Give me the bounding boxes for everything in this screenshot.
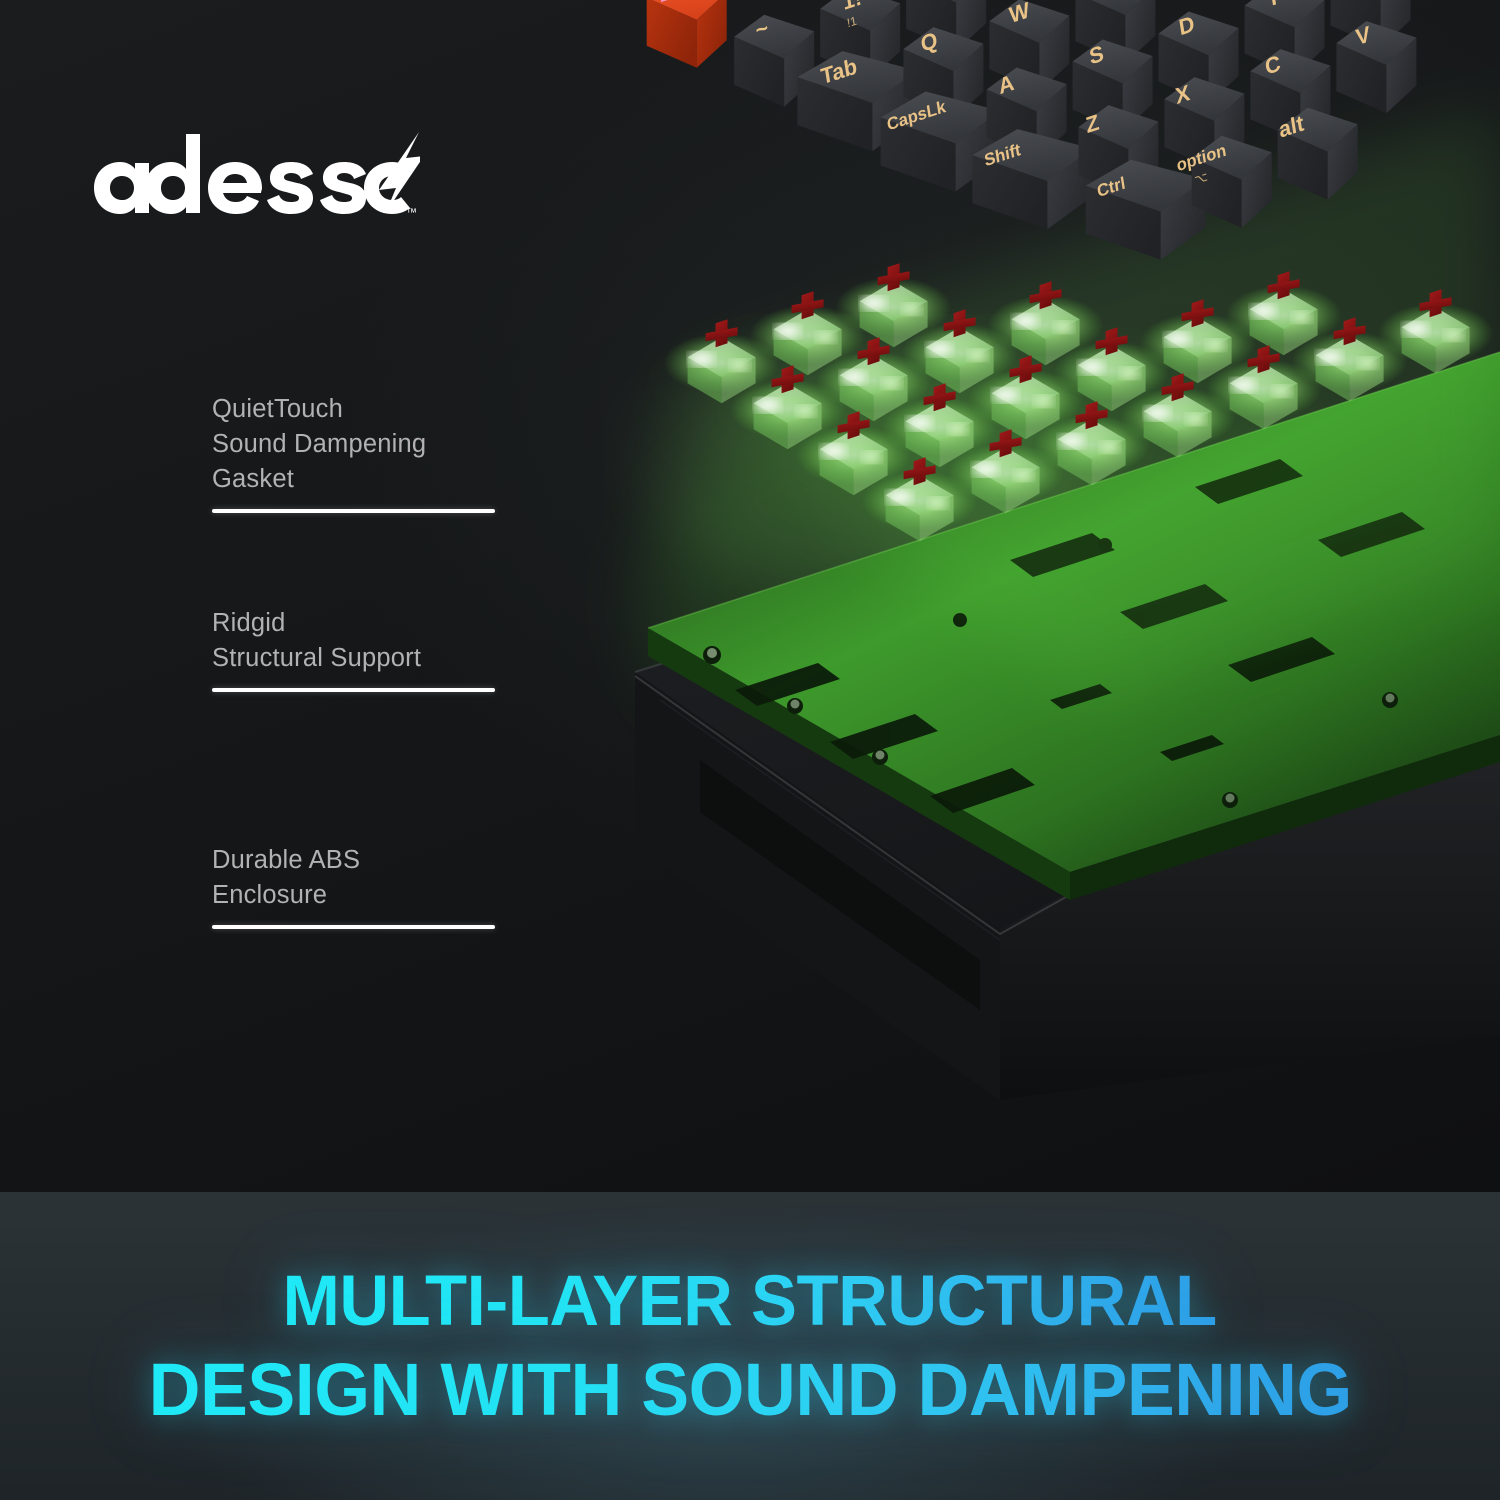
headline-banner: MULTI-LAYER STRUCTURAL DESIGN WITH SOUND… xyxy=(0,1192,1500,1500)
feature-label: Durable ABS Enclosure xyxy=(212,843,512,913)
headline-line-2: DESIGN WITH SOUND DAMPENING xyxy=(148,1348,1351,1432)
feature-underline xyxy=(212,925,495,929)
feature-callout-structural-support: Ridgid Structural Support xyxy=(212,606,512,692)
headline-line-1: MULTI-LAYER STRUCTURAL xyxy=(283,1260,1217,1344)
trademark-symbol: ™ xyxy=(406,207,417,219)
feature-callout-abs-enclosure: Durable ABS Enclosure xyxy=(212,843,512,929)
hero-panel: ESC~1!!12@@2TabQWECapsLkASDFGShiftZXCVCt… xyxy=(0,0,1500,1192)
product-marketing-image: ESC~1!!12@@2TabQWECapsLkASDFGShiftZXCVCt… xyxy=(0,0,1500,1500)
keycap: V xyxy=(1336,21,1416,113)
feature-underline xyxy=(212,509,495,513)
adesso-logo: ™ xyxy=(90,128,420,220)
feature-label: Ridgid Structural Support xyxy=(212,606,512,676)
feature-label: QuietTouch Sound Dampening Gasket xyxy=(212,392,512,497)
keycap-esc: ESC xyxy=(647,0,727,68)
feature-callout-quiettouch-gasket: QuietTouch Sound Dampening Gasket xyxy=(212,392,512,513)
feature-underline xyxy=(212,688,495,692)
